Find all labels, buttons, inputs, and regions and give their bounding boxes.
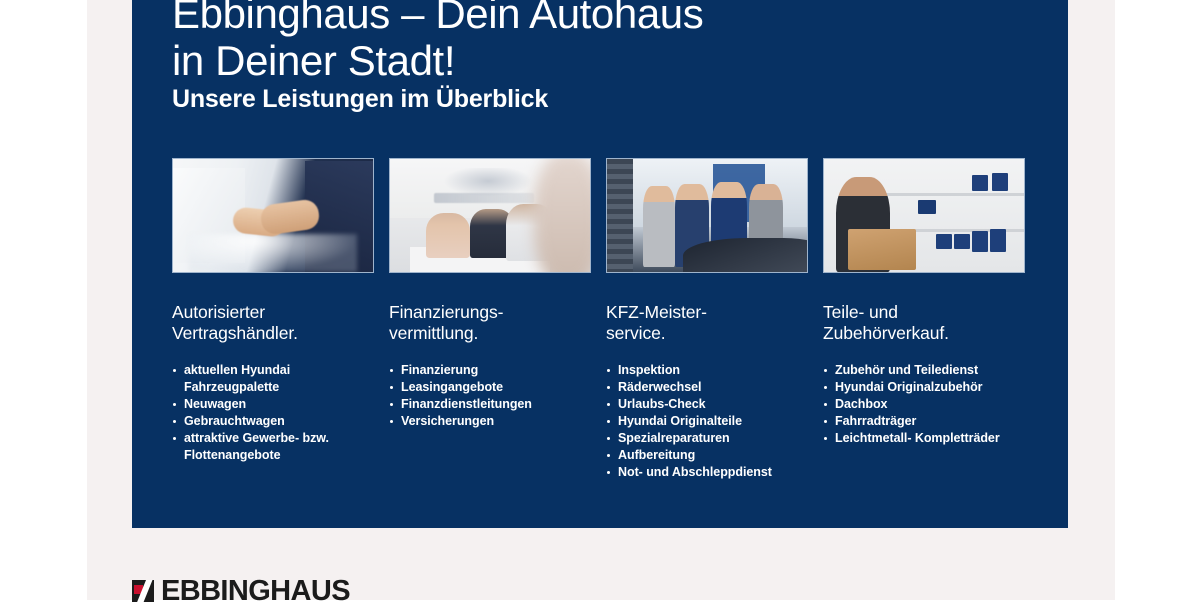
list-item: Hyundai Originalzubehör — [823, 379, 1025, 396]
list-item: Gebrauchtwagen — [172, 413, 374, 430]
page-title: Ebbinghaus – Dein Autohaus in Deiner Sta… — [172, 0, 1032, 84]
list-item: Inspektion — [606, 362, 808, 379]
list-item: Aufbereitung — [606, 447, 808, 464]
handshake-photo — [172, 158, 374, 273]
service-heading: KFZ-Meister- service. — [606, 302, 808, 344]
list-item: Spezialreparaturen — [606, 430, 808, 447]
page-root: Ebbinghaus – Dein Autohaus in Deiner Sta… — [0, 0, 1200, 600]
list-item: Not- und Abschleppdienst — [606, 464, 808, 481]
parts-warehouse-photo — [823, 158, 1025, 273]
service-bullet-list: Inspektion Räderwechsel Urlaubs-Check Hy… — [606, 362, 808, 481]
list-item: Fahrradträger — [823, 413, 1025, 430]
logo-wordmark: EBBINGHAUS — [161, 578, 350, 604]
hero-subtitle: Unsere Leistungen im Überblick — [172, 84, 548, 114]
list-item: Hyundai Originalteile — [606, 413, 808, 430]
service-column-vertragshaendler: Autorisierter Vertragshändler. aktuellen… — [172, 158, 374, 481]
list-item: Zubehör und Teiledienst — [823, 362, 1025, 379]
services-columns: Autorisierter Vertragshändler. aktuellen… — [172, 158, 1028, 481]
service-heading: Finanzierungs- vermittlung. — [389, 302, 591, 344]
service-bullet-list: aktuellen Hyundai Fahrzeugpalette Neuwag… — [172, 362, 374, 464]
service-heading: Autorisierter Vertragshändler. — [172, 302, 374, 344]
service-bullet-list: Zubehör und Teiledienst Hyundai Original… — [823, 362, 1025, 447]
service-column-finanzierung: Finanzierungs- vermittlung. Finanzierung… — [389, 158, 591, 481]
footer-logo[interactable]: EBBINGHAUS — [132, 578, 350, 604]
list-item: Finanzdienstleitungen — [389, 396, 591, 413]
list-item: Neuwagen — [172, 396, 374, 413]
mechanics-team-photo — [606, 158, 808, 273]
list-item: Finanzierung — [389, 362, 591, 379]
dealership-consultation-photo — [389, 158, 591, 273]
list-item: Versicherungen — [389, 413, 591, 430]
list-item: Leasingangebote — [389, 379, 591, 396]
list-item: Leichtmetall- Kompletträder — [823, 430, 1025, 447]
list-item: attraktive Gewerbe- bzw. Flottenangebote — [172, 430, 374, 464]
list-item: aktuellen Hyundai Fahrzeugpalette — [172, 362, 374, 396]
list-item: Räderwechsel — [606, 379, 808, 396]
hero-panel: Ebbinghaus – Dein Autohaus in Deiner Sta… — [132, 0, 1068, 528]
service-bullet-list: Finanzierung Leasingangebote Finanzdiens… — [389, 362, 591, 430]
service-column-teile-zubehoer: Teile- und Zubehörverkauf. Zubehör und T… — [823, 158, 1025, 481]
list-item: Dachbox — [823, 396, 1025, 413]
service-column-kfz-meisterservice: KFZ-Meister- service. Inspektion Räderwe… — [606, 158, 808, 481]
service-heading: Teile- und Zubehörverkauf. — [823, 302, 1025, 344]
ebbinghaus-logo-icon — [132, 580, 154, 602]
list-item: Urlaubs-Check — [606, 396, 808, 413]
